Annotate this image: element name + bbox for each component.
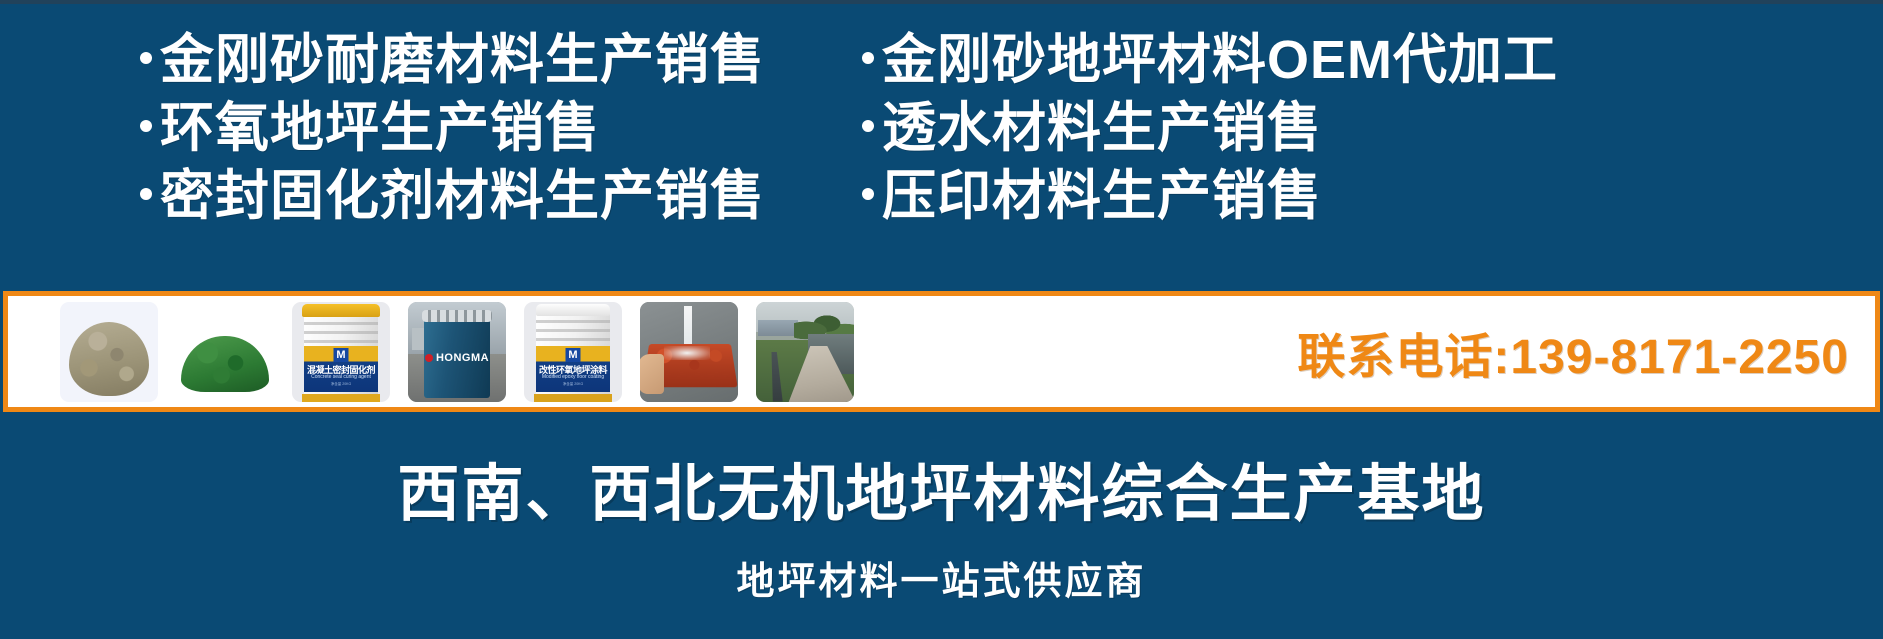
pail-rib xyxy=(304,322,378,325)
product-thumb-stamped-concrete-pathway xyxy=(756,302,854,402)
page-subtitle: 地坪材料一站式供应商 xyxy=(0,550,1883,605)
top-edge-strip xyxy=(0,0,1883,4)
pail-base xyxy=(302,394,380,402)
pail-label-fine: 净含量 20KG xyxy=(536,382,610,387)
hand-shape xyxy=(640,354,664,394)
product-thumb-green-abrasive-powder xyxy=(176,302,274,402)
feature-label: 环氧地坪生产销售 xyxy=(160,94,600,162)
feature-list-region: 金刚砂耐磨材料生产销售 环氧地坪生产销售 密封固化剂材料生产销售 金刚砂地坪材料… xyxy=(0,26,1883,246)
promotional-banner: 金刚砂耐磨材料生产销售 环氧地坪生产销售 密封固化剂材料生产销售 金刚砂地坪材料… xyxy=(0,0,1883,639)
feature-column-right: 金刚砂地坪材料OEM代加工 透水材料生产销售 压印材料生产销售 xyxy=(862,26,1558,230)
feature-label: 密封固化剂材料生产销售 xyxy=(160,162,765,230)
product-thumb-grey-abrasive-powder xyxy=(60,302,158,402)
pail-lid xyxy=(536,304,610,316)
pail-label: M 混凝土密封固化剂 Concrete seal curing agent 净含… xyxy=(304,346,378,392)
feature-label: 金刚砂耐磨材料生产销售 xyxy=(160,26,765,94)
pail-label-en: Concrete seal curing agent xyxy=(304,374,378,380)
powder-pile-shape xyxy=(69,322,149,396)
product-thumbnail-strip: M 混凝土密封固化剂 Concrete seal curing agent 净含… xyxy=(8,296,854,407)
feature-item: 金刚砂耐磨材料生产销售 xyxy=(140,26,765,94)
feature-item: 环氧地坪生产销售 xyxy=(140,94,765,162)
pail-rib xyxy=(536,329,610,332)
powder-pile-shape xyxy=(181,336,269,392)
bullet-dot-icon xyxy=(140,188,152,200)
product-showcase-panel: M 混凝土密封固化剂 Concrete seal curing agent 净含… xyxy=(3,291,1880,412)
feature-label: 压印材料生产销售 xyxy=(882,162,1322,230)
pail-label-en: Modified epoxy floor coating xyxy=(536,374,610,380)
product-thumb-hongma-steel-drum: HONGMA xyxy=(408,302,506,402)
water-splash-shape xyxy=(664,346,710,360)
brand-logo-m: M xyxy=(566,348,581,362)
pail-label-fine: 净含量 20KG xyxy=(304,382,378,387)
page-title: 西南、西北无机地坪材料综合生产基地 xyxy=(0,458,1883,532)
feature-item: 压印材料生产销售 xyxy=(862,162,1558,230)
pail-rib xyxy=(536,338,610,341)
drum-brand-label: HONGMA xyxy=(436,352,489,364)
bullet-dot-icon xyxy=(140,120,152,132)
feature-item: 密封固化剂材料生产销售 xyxy=(140,162,765,230)
bullet-dot-icon xyxy=(862,120,874,132)
product-thumb-epoxy-coating-pail: M 改性环氧地坪涂料 Modified epoxy floor coating … xyxy=(524,302,622,402)
feature-item: 金刚砂地坪材料OEM代加工 xyxy=(862,26,1558,94)
pathway-scene-buildings xyxy=(758,320,798,336)
bullet-dot-icon xyxy=(862,52,874,64)
drum-clamp-ring xyxy=(422,310,492,322)
pail-label: M 改性环氧地坪涂料 Modified epoxy floor coating … xyxy=(536,346,610,392)
feature-item: 透水材料生产销售 xyxy=(862,94,1558,162)
brand-logo-m: M xyxy=(334,348,349,362)
feature-label: 透水材料生产销售 xyxy=(882,94,1322,162)
feature-label: 金刚砂地坪材料OEM代加工 xyxy=(882,26,1558,94)
contact-phone[interactable]: 联系电话:139-8171-2250 xyxy=(1297,317,1849,387)
brand-dot-icon xyxy=(425,354,433,362)
pail-rib xyxy=(304,340,378,343)
bullet-dot-icon xyxy=(140,52,152,64)
product-thumb-permeable-concrete-sample xyxy=(640,302,738,402)
pail-lid xyxy=(302,304,380,317)
pail-base xyxy=(534,394,612,402)
pail-rib xyxy=(304,331,378,334)
pail-rib xyxy=(536,320,610,323)
bullet-dot-icon xyxy=(862,188,874,200)
feature-column-left: 金刚砂耐磨材料生产销售 环氧地坪生产销售 密封固化剂材料生产销售 xyxy=(140,26,765,230)
product-thumb-sealer-pail: M 混凝土密封固化剂 Concrete seal curing agent 净含… xyxy=(292,302,390,402)
drum-brand-text: HONGMA xyxy=(408,352,506,364)
